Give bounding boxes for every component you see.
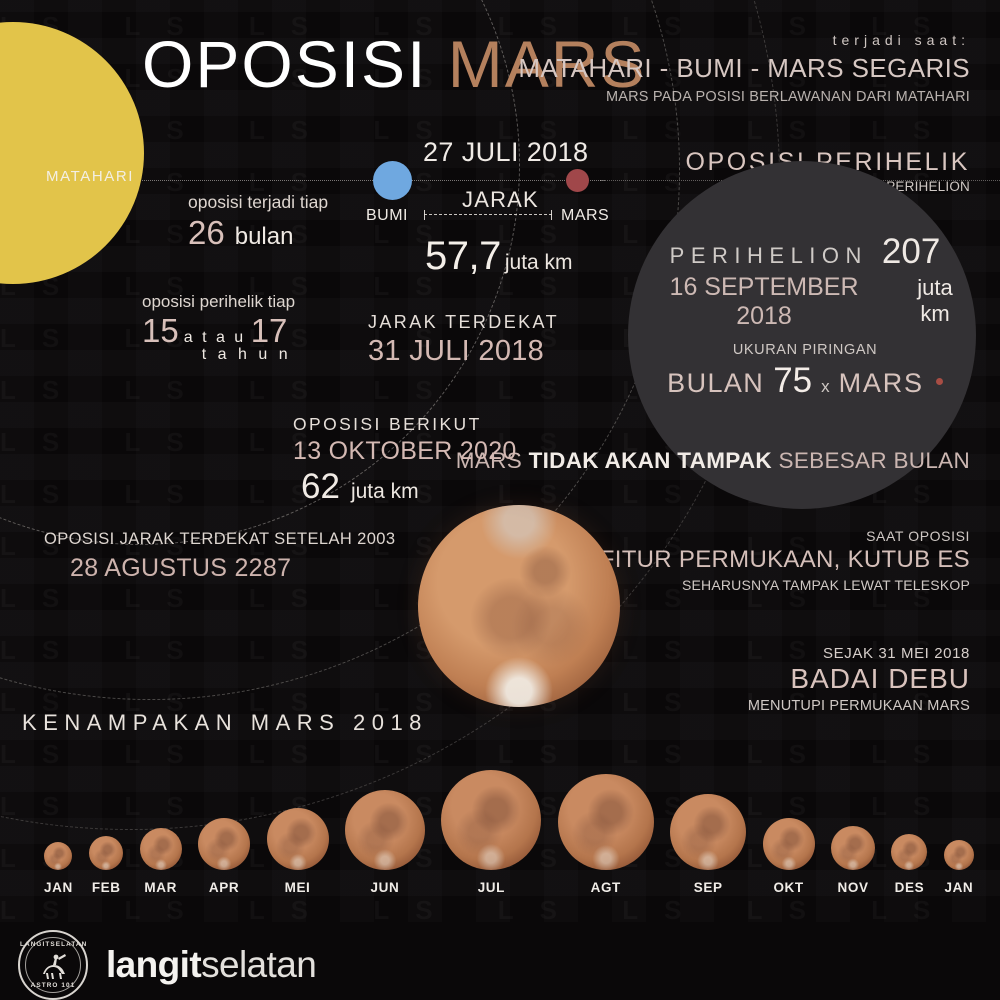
sequence-month-label: NOV: [838, 880, 869, 895]
langitselatan-logo: LANGITSELATAN ASTRO 101: [18, 930, 88, 1000]
mars-disc-okt-9: [763, 818, 815, 870]
sequence-item: NOV: [831, 826, 875, 895]
size-factor: 75: [773, 361, 812, 401]
interval-unit: bulan: [235, 223, 294, 251]
sequence-item: AGT: [558, 774, 654, 895]
sequence-item: FEB: [89, 836, 123, 895]
sequence-month-label: JUL: [478, 880, 505, 895]
alignment-subtext: MARS PADA POSISI BERLAWANAN DARI MATAHAR…: [518, 89, 970, 105]
mars-disc-jul-6: [441, 770, 541, 870]
footer: LANGITSELATAN ASTRO 101 langitselatan KO…: [0, 922, 1000, 1000]
title-word-oposisi: OPOSISI: [142, 27, 427, 101]
langitselatan-wordmark: langitselatan: [106, 944, 316, 986]
perihelic-or: a t a u: [184, 329, 246, 347]
interval-kicker: oposisi terjadi tiap: [188, 192, 328, 213]
perihelic-number-2: 17: [251, 312, 288, 350]
sequence-month-label: SEP: [694, 880, 723, 895]
surface-sub: SEHARUSNYA TAMPAK LEWAT TELESKOP: [600, 577, 970, 593]
sequence-item: APR: [198, 818, 250, 895]
distance-unit: juta km: [505, 251, 573, 275]
next-opposition-block: OPOSISI BERIKUT 13 OKTOBER 2020 62 juta …: [293, 414, 517, 507]
sequence-month-label: OKT: [773, 880, 803, 895]
sequence-item: SEP: [670, 794, 746, 895]
mars-disc-agt-7: [558, 774, 654, 870]
surface-kicker: SAAT OPOSISI: [600, 528, 970, 544]
closest-since-2003-block: OPOSISI JARAK TERDEKAT SETELAH 2003 28 A…: [44, 530, 395, 583]
mars-disc-des-11: [891, 834, 927, 870]
mars-dot-icon: [936, 378, 943, 385]
earth-label: BUMI: [366, 207, 408, 225]
dust-storm-kicker: SEJAK 31 MEI 2018: [748, 645, 970, 662]
sequence-month-label: AGT: [591, 880, 621, 895]
sequence-month-label: JAN: [44, 880, 73, 895]
sequence-month-label: MAR: [144, 880, 177, 895]
next-opposition-kicker: OPOSISI BERIKUT: [293, 414, 517, 435]
mars-label: MARS: [561, 207, 609, 225]
disk-size-kicker: UKURAN PIRINGAN: [640, 342, 970, 358]
dust-storm-main: BADAI DEBU: [748, 663, 970, 695]
mars-not-as-big-as-moon: MARS TIDAK AKAN TAMPAK SEBESAR BULAN: [456, 448, 970, 474]
mars-disc-jan-0: [44, 842, 72, 870]
times-symbol: x: [821, 377, 830, 397]
mars-disc-mei-4: [267, 808, 329, 870]
mars-disc-mar-2: [140, 828, 182, 870]
next-opposition-distance-unit: juta km: [351, 480, 419, 504]
perihelion-info: PERIHELION 207 16 SEPTEMBER 2018 juta km: [640, 232, 970, 331]
perihelion-date: 16 SEPTEMBER 2018: [640, 273, 888, 331]
sequence-item: MEI: [267, 808, 329, 895]
no-moon-part-b: TIDAK AKAN TAMPAK: [529, 448, 772, 473]
mars-disc-jun-5: [345, 790, 425, 870]
earth-disc: [373, 161, 412, 200]
mars-disc-apr-3: [198, 818, 250, 870]
sequence-item: JUL: [441, 770, 541, 895]
surface-features-block: SAAT OPOSISI FITUR PERMUKAAN, KUTUB ES S…: [600, 528, 970, 593]
sequence-month-label: JAN: [944, 880, 973, 895]
sequence-month-label: JUN: [371, 880, 400, 895]
mars-photo: [418, 505, 620, 707]
mars-disc: [566, 169, 589, 192]
perihelic-interval-kicker: oposisi perihelik tiap: [142, 292, 295, 312]
closest-approach-kicker: JARAK TERDEKAT: [368, 312, 559, 333]
sequence-item: JAN: [44, 842, 73, 895]
sequence-item: JAN: [944, 840, 974, 895]
centaur-icon: [37, 952, 71, 982]
perihelic-interval-block: oposisi perihelik tiap 15 a t a u 17 t a…: [142, 292, 295, 364]
logo-top-text: LANGITSELATAN: [20, 941, 86, 948]
sequence-item: DES: [891, 834, 927, 895]
mars-size-sequence: JANFEBMARAPRMEIJUNJULAGTSEPOKTNOVDESJAN: [44, 755, 974, 895]
sequence-month-label: DES: [895, 880, 925, 895]
distance-value-group: 57,7 juta km: [425, 234, 573, 279]
sequence-title: KENAMPAKAN MARS 2018: [22, 710, 428, 736]
opposition-interval-block: oposisi terjadi tiap 26 bulan: [188, 192, 328, 252]
sequence-item: OKT: [763, 818, 815, 895]
mars-disc-nov-10: [831, 826, 875, 870]
sequence-item: JUN: [345, 790, 425, 895]
no-moon-part-c: SEBESAR BULAN: [772, 448, 970, 473]
next-opposition-distance: 62: [301, 467, 340, 507]
mars-disc-jan-12: [944, 840, 974, 870]
closest-approach-block: JARAK TERDEKAT 31 JULI 2018: [368, 312, 559, 368]
infographic-canvas: LS LS LS LS LS LS LS LS LS LS LS LS LS L…: [0, 0, 1000, 1000]
distance-value: 57,7: [425, 234, 501, 279]
sequence-item: MAR: [140, 828, 182, 895]
interval-number: 26: [188, 214, 225, 252]
wordmark-selatan: selatan: [201, 944, 316, 985]
alignment-statement: MATAHARI - BUMI - MARS SEGARIS: [518, 53, 970, 84]
perihelion-distance-unit: juta km: [900, 275, 970, 327]
opposition-date: 27 JULI 2018: [423, 137, 588, 168]
sequence-month-label: FEB: [92, 880, 121, 895]
disk-size-comparison: UKURAN PIRINGAN BULAN 75 x MARS: [640, 342, 970, 401]
surface-main: FITUR PERMUKAAN, KUTUB ES: [600, 546, 970, 574]
terjadi-saat-kicker: terjadi saat:: [518, 32, 970, 48]
perihelic-number-1: 15: [142, 312, 179, 350]
terjadi-saat-block: terjadi saat: MATAHARI - BUMI - MARS SEG…: [518, 32, 970, 105]
wordmark-langit: langit: [106, 944, 201, 985]
distance-measure-bar: [424, 214, 552, 215]
next-opposition-date: 13 OKTOBER 2020: [293, 437, 517, 466]
moon-label: BULAN: [667, 368, 764, 399]
perihelion-word: PERIHELION: [670, 243, 868, 269]
dust-storm-sub: MENUTUPI PERMUKAAN MARS: [748, 698, 970, 714]
mars-disc-feb-1: [89, 836, 123, 870]
closest-approach-date: 31 JULI 2018: [368, 335, 559, 368]
opposition-alignment-line: [135, 180, 605, 181]
mars-disc-sep-8: [670, 794, 746, 870]
closest-since-2003-kicker: OPOSISI JARAK TERDEKAT SETELAH 2003: [44, 530, 395, 549]
dust-storm-block: SEJAK 31 MEI 2018 BADAI DEBU MENUTUPI PE…: [748, 645, 970, 714]
distance-word: JARAK: [462, 187, 539, 213]
sequence-month-label: APR: [209, 880, 239, 895]
logo-bottom-text: ASTRO 101: [20, 982, 86, 989]
mars-label-comparison: MARS: [839, 368, 924, 399]
sequence-month-label: MEI: [285, 880, 311, 895]
closest-since-2003-date: 28 AGUSTUS 2287: [44, 554, 395, 583]
perihelion-distance-number: 207: [882, 232, 940, 272]
sun-label: MATAHARI: [46, 168, 134, 185]
